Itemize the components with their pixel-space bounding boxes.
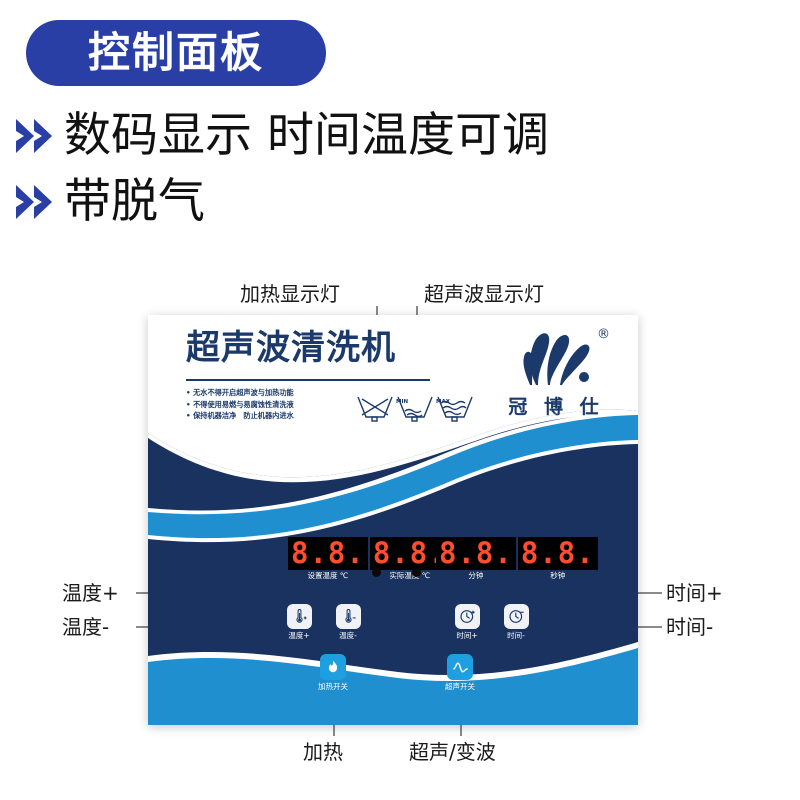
title-divider: [186, 379, 430, 381]
heat-switch-button-label: 加热开关: [303, 683, 363, 691]
page-root: 控制面板 数码显示 时间温度可调 带脱气 加热显示灯 超声波显示灯 温度+ 温度…: [0, 0, 800, 800]
double-chevron-right-icon: [14, 179, 58, 225]
temperature-display: 8.8. 设置温度 ℃ 8.8. 实际温度 ℃: [288, 537, 450, 580]
time-up-button[interactable]: [455, 604, 480, 629]
clock-plus-icon: [459, 608, 476, 625]
product-title: 超声波清洗机: [186, 331, 396, 365]
timer-display: 8.8. 分钟 8.8. 秒钟: [436, 537, 598, 580]
callout-temp-up: 温度+: [62, 583, 119, 603]
registered-mark: ®: [597, 327, 610, 342]
section-badge: 控制面板: [26, 20, 326, 86]
ultrasonic-led-indicator: [412, 568, 421, 577]
callout-ultrasonic: 超声/变波: [409, 742, 496, 762]
callout-time-down: 时间-: [666, 617, 713, 637]
feature-bullet-2: 带脱气: [14, 178, 205, 225]
feature-bullet-1-text: 数码显示 时间温度可调: [64, 112, 549, 159]
brand-logo: ® 冠 博 仕: [500, 327, 612, 419]
seconds-value: 8.8.: [521, 539, 595, 568]
warning-line-1: 无水不得开启超声波与加热功能: [186, 387, 294, 399]
feature-bullet-2-text: 带脱气: [64, 178, 205, 225]
seconds-label: 秒钟: [518, 572, 598, 580]
brand-name: 冠 博 仕: [500, 398, 612, 417]
tank-min-label: MIN: [396, 399, 409, 405]
badge-label: 控制面板: [88, 32, 264, 74]
tank-max-label: MAX: [436, 399, 451, 405]
tank-empty-icon: [358, 397, 392, 421]
control-panel: 超声波清洗机 无水不得开启超声波与加热功能 不得使用易燃与易腐蚀性清洗液 保持机…: [148, 315, 638, 725]
time-down-button-label: 时间-: [486, 632, 546, 640]
double-chevron-right-icon: [14, 113, 58, 159]
ultrasonic-switch-button[interactable]: [447, 654, 473, 680]
seconds-value-box: 8.8.: [518, 537, 598, 570]
thermometer-minus-icon: [340, 608, 357, 625]
temp-down-button[interactable]: [336, 604, 361, 629]
clock-minus-icon: [508, 608, 525, 625]
flame-icon: [325, 659, 341, 675]
callout-heat-indicator: 加热显示灯: [240, 284, 340, 304]
heat-led-indicator: [372, 568, 381, 577]
set-temperature-value: 8.8.: [291, 539, 365, 568]
callout-temp-down: 温度-: [62, 617, 109, 637]
minutes-label: 分钟: [436, 572, 516, 580]
warning-line-3: 保持机器洁净 防止机器内进水: [186, 410, 294, 422]
set-temperature-value-box: 8.8.: [288, 537, 368, 570]
feature-bullet-1: 数码显示 时间温度可调: [14, 112, 549, 159]
wave-icon: [452, 659, 469, 676]
water-splash-logo-icon: [500, 327, 612, 395]
warning-notes: 无水不得开启超声波与加热功能 不得使用易燃与易腐蚀性清洗液 保持机器洁净 防止机…: [186, 387, 294, 422]
heat-switch-button[interactable]: [320, 654, 346, 680]
time-down-button[interactable]: [504, 604, 529, 629]
temp-down-button-label: 温度-: [318, 632, 378, 640]
callout-heat: 加热: [303, 742, 343, 762]
minutes-value-box: 8.8.: [436, 537, 516, 570]
callout-time-up: 时间+: [666, 583, 723, 603]
warning-line-2: 不得使用易燃与易腐蚀性清洗液: [186, 399, 294, 411]
ultrasonic-switch-button-label: 超声开关: [430, 683, 490, 691]
thermometer-plus-icon: [291, 608, 308, 625]
set-temperature-label: 设置温度 ℃: [288, 572, 368, 580]
temp-up-button[interactable]: [287, 604, 312, 629]
minutes-value: 8.8.: [439, 539, 513, 568]
tank-level-icons: MIN MAX: [356, 391, 474, 425]
callout-ultrasonic-indicator: 超声波显示灯: [424, 284, 544, 304]
